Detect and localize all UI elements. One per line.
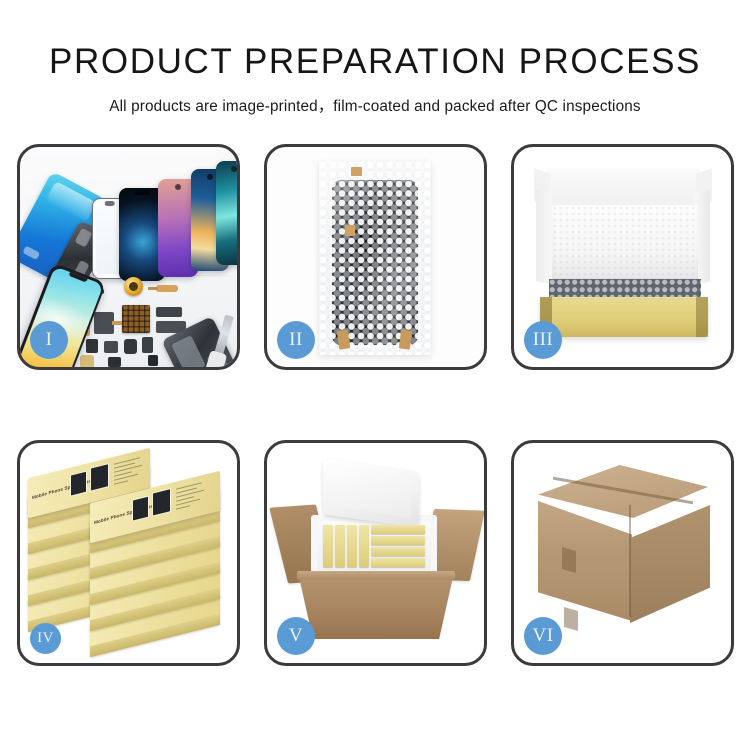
notch-icon	[104, 201, 115, 206]
part-flex-2	[156, 307, 182, 317]
inner-yellow-box-5	[371, 525, 425, 534]
inner-yellow-box-6	[371, 536, 425, 545]
step-badge-5: V	[277, 617, 315, 655]
phone-screen-teal	[216, 161, 237, 265]
carton-vertical-edge	[629, 505, 631, 617]
step-badge-2: II	[277, 321, 315, 359]
tape-piece-1	[351, 167, 362, 176]
page-subtitle: All products are image-printed，film-coat…	[0, 82, 750, 116]
speaker-coil-part	[124, 277, 143, 296]
tape-piece-2	[345, 225, 355, 236]
yellow-box-open	[532, 167, 714, 337]
process-step-panel-1: I	[17, 144, 240, 370]
inner-yellow-box-2	[335, 525, 345, 567]
process-step-panel-6: VI	[511, 440, 734, 666]
plastic-sheen	[319, 161, 431, 355]
box-label-screenshot-b	[90, 463, 109, 492]
box-lid-left	[536, 189, 552, 284]
copper-grid-chip-part	[122, 305, 150, 333]
punch-hole-icon	[175, 184, 181, 190]
carton-side-face	[630, 505, 710, 623]
box-label-spec-lines	[176, 479, 208, 513]
part-chip-3	[124, 339, 137, 354]
camera-module-part	[148, 355, 158, 366]
part-flex-gold	[156, 285, 178, 292]
process-step-panel-2: II	[264, 144, 487, 370]
part-flex-1	[94, 312, 114, 334]
step-badge-6: VI	[524, 617, 562, 655]
inner-yellow-box-3	[347, 525, 357, 567]
inner-yellow-box-7	[371, 547, 425, 556]
process-step-panel-5: V	[264, 440, 487, 666]
punch-hole-icon	[207, 174, 213, 180]
yellow-box-stack: Mobile Phone Spare Parts Mobile Phone Sp…	[28, 457, 228, 653]
part-chip-1	[86, 339, 98, 353]
phone-lineup	[92, 161, 237, 279]
header: PRODUCT PREPARATION PROCESS All products…	[0, 0, 750, 116]
process-step-panel-3: III	[511, 144, 734, 370]
product-preparation-infographic: PRODUCT PREPARATION PROCESS All products…	[0, 0, 750, 750]
brown-carton-sealed	[530, 465, 720, 643]
yellow-box-tray	[540, 297, 708, 337]
carton-tape-upper	[562, 547, 576, 573]
carton-front-lip	[297, 571, 455, 580]
inner-yellow-box-1	[323, 525, 333, 567]
white-foam-sheet	[552, 205, 698, 281]
process-step-grid: I II	[17, 144, 733, 676]
process-step-panel-4: Mobile Phone Spare Parts Mobile Phone Sp…	[17, 440, 240, 666]
part-chip-4	[142, 337, 153, 353]
part-chip-6	[108, 357, 121, 367]
bubble-wrap-bag	[319, 161, 431, 355]
carton-body	[299, 577, 453, 639]
carton-tape-lower	[564, 607, 578, 631]
inner-yellow-box-8	[371, 558, 425, 567]
box-label-spec-lines	[114, 454, 146, 488]
page-title: PRODUCT PREPARATION PROCESS	[0, 0, 750, 82]
punch-hole-icon	[231, 166, 237, 172]
notch-icon	[135, 190, 150, 195]
box-label-screenshot-b	[152, 488, 171, 517]
inner-yellow-box-4	[359, 525, 369, 567]
step-badge-3: III	[524, 321, 562, 359]
step-badge-4: IV	[30, 623, 61, 654]
part-chip-7	[80, 355, 94, 367]
part-chip-2	[104, 341, 118, 353]
step-badge-1: I	[30, 321, 68, 359]
box-label-screenshot-a	[132, 495, 149, 521]
tape-piece-4	[399, 329, 412, 349]
carton-front-face	[538, 501, 632, 621]
box-label-screenshot-a	[70, 470, 87, 496]
brown-carton-open	[281, 465, 473, 637]
